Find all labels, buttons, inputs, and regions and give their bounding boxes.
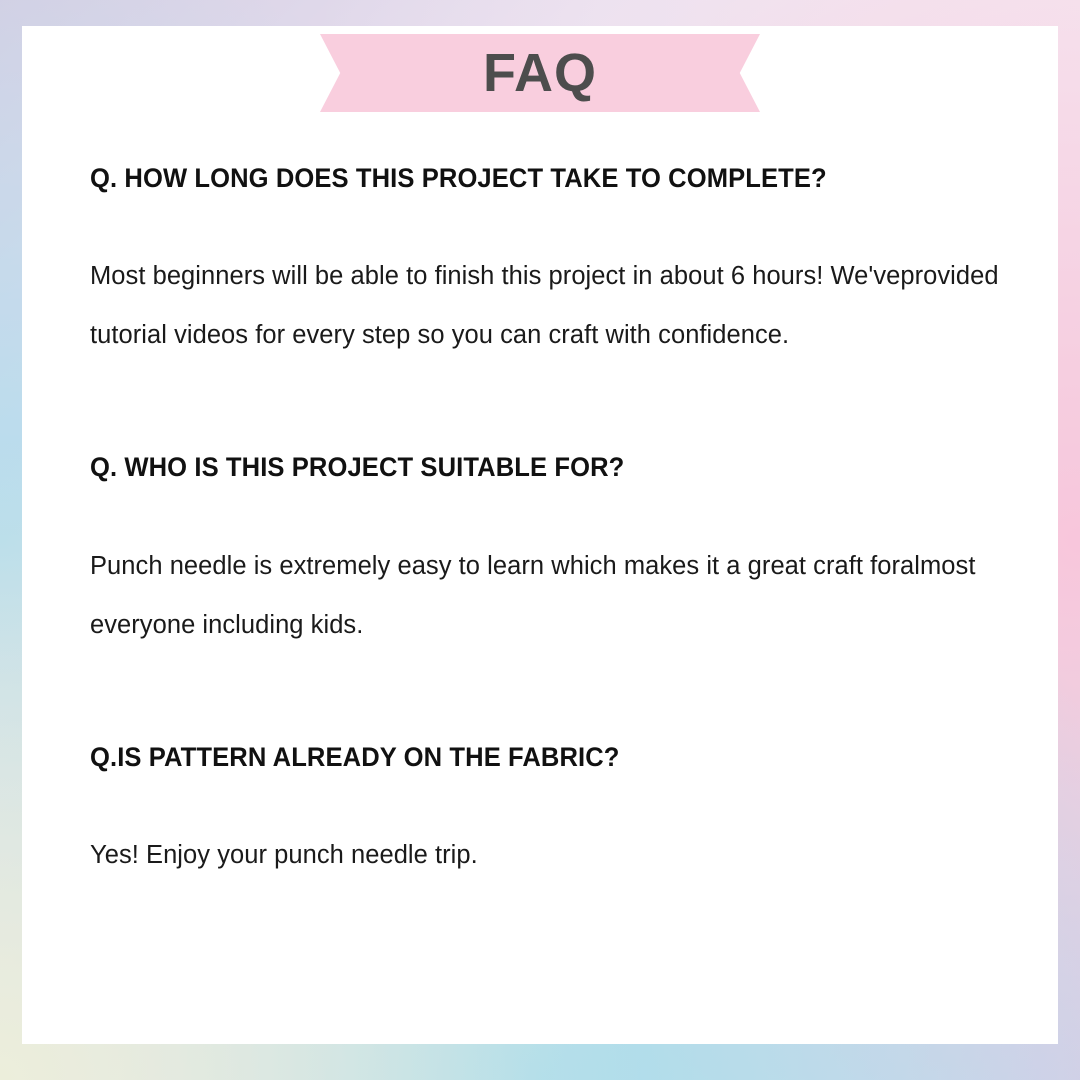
banner-title: FAQ (483, 46, 597, 100)
faq-poster: FAQ Q. HOW LONG DOES THIS PROJECT TAKE T… (0, 0, 1080, 1080)
faq-list: Q. HOW LONG DOES THIS PROJECT TAKE TO CO… (90, 138, 1000, 885)
faq-question: Q.IS PATTERN ALREADY ON THE FABRIC? (90, 741, 968, 774)
faq-ribbon-banner: FAQ (320, 34, 760, 112)
faq-item: Q. HOW LONG DOES THIS PROJECT TAKE TO CO… (90, 162, 1000, 365)
faq-answer: Yes! Enjoy your punch needle trip. (90, 826, 1000, 885)
white-content-card: FAQ Q. HOW LONG DOES THIS PROJECT TAKE T… (22, 26, 1058, 1044)
banner-container: FAQ (22, 34, 1058, 112)
faq-item: Q. WHO IS THIS PROJECT SUITABLE FOR? Pun… (90, 451, 1000, 654)
faq-item: Q.IS PATTERN ALREADY ON THE FABRIC? Yes!… (90, 741, 1000, 885)
faq-answer: Most beginners will be able to finish th… (90, 247, 1000, 365)
faq-question: Q. HOW LONG DOES THIS PROJECT TAKE TO CO… (90, 162, 968, 195)
faq-answer: Punch needle is extremely easy to learn … (90, 537, 1000, 655)
faq-question: Q. WHO IS THIS PROJECT SUITABLE FOR? (90, 451, 968, 484)
